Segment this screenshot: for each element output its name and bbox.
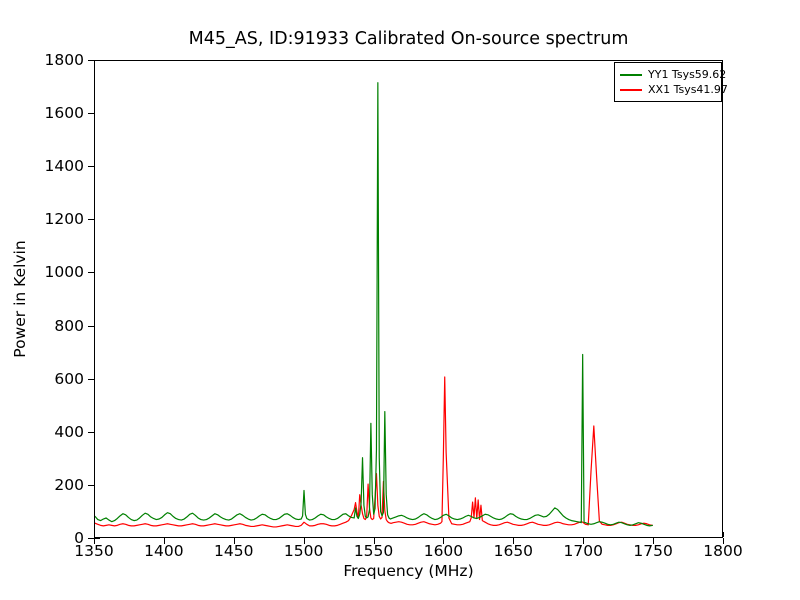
y-tick-mark <box>95 538 100 539</box>
y-tick-label: 800 <box>0 317 84 335</box>
y-tick-label: 0 <box>0 529 84 547</box>
series-line <box>95 83 652 526</box>
legend-color-swatch <box>620 74 642 76</box>
figure-canvas: M45_AS, ID:91933 Calibrated On-source sp… <box>0 0 800 600</box>
legend-color-swatch <box>620 89 642 91</box>
y-tick-label: 1400 <box>0 157 84 175</box>
y-tick-label: 1800 <box>0 51 84 69</box>
x-tick-mark <box>723 538 724 544</box>
x-tick-label: 1600 <box>424 542 463 560</box>
x-tick-mark <box>723 532 724 537</box>
x-tick-label: 1800 <box>703 542 742 560</box>
x-tick-mark <box>304 538 305 544</box>
y-tick-label: 1000 <box>0 263 84 281</box>
legend-label: XX1 Tsys41.97 <box>648 82 728 97</box>
x-tick-mark <box>164 538 165 544</box>
x-tick-mark <box>234 538 235 544</box>
x-tick-label: 1500 <box>284 542 323 560</box>
y-tick-label: 600 <box>0 370 84 388</box>
x-axis-label: Frequency (MHz) <box>94 562 723 580</box>
y-tick-label: 400 <box>0 423 84 441</box>
y-tick-label: 1200 <box>0 210 84 228</box>
x-tick-label: 1450 <box>214 542 253 560</box>
legend-box: YY1 Tsys59.62XX1 Tsys41.97 <box>614 62 722 102</box>
x-tick-label: 1550 <box>354 542 393 560</box>
y-axis-label: Power in Kelvin <box>11 240 29 357</box>
x-tick-label: 1650 <box>494 542 533 560</box>
x-tick-mark <box>513 538 514 544</box>
x-tick-mark <box>94 538 95 544</box>
x-tick-mark <box>583 538 584 544</box>
x-tick-mark <box>374 538 375 544</box>
chart-title: M45_AS, ID:91933 Calibrated On-source sp… <box>94 29 723 49</box>
x-tick-label: 1750 <box>633 542 672 560</box>
x-tick-mark <box>443 538 444 544</box>
legend-label: YY1 Tsys59.62 <box>648 67 726 82</box>
x-tick-mark <box>653 538 654 544</box>
spectrum-traces <box>95 61 722 537</box>
series-line <box>95 377 652 527</box>
y-tick-label: 1600 <box>0 104 84 122</box>
y-tick-label: 200 <box>0 476 84 494</box>
legend-entry[interactable]: YY1 Tsys59.62 <box>620 67 716 82</box>
plot-area <box>94 60 723 538</box>
x-tick-label: 1350 <box>74 542 113 560</box>
legend-entry[interactable]: XX1 Tsys41.97 <box>620 82 716 97</box>
x-tick-label: 1400 <box>144 542 183 560</box>
x-tick-label: 1700 <box>563 542 602 560</box>
